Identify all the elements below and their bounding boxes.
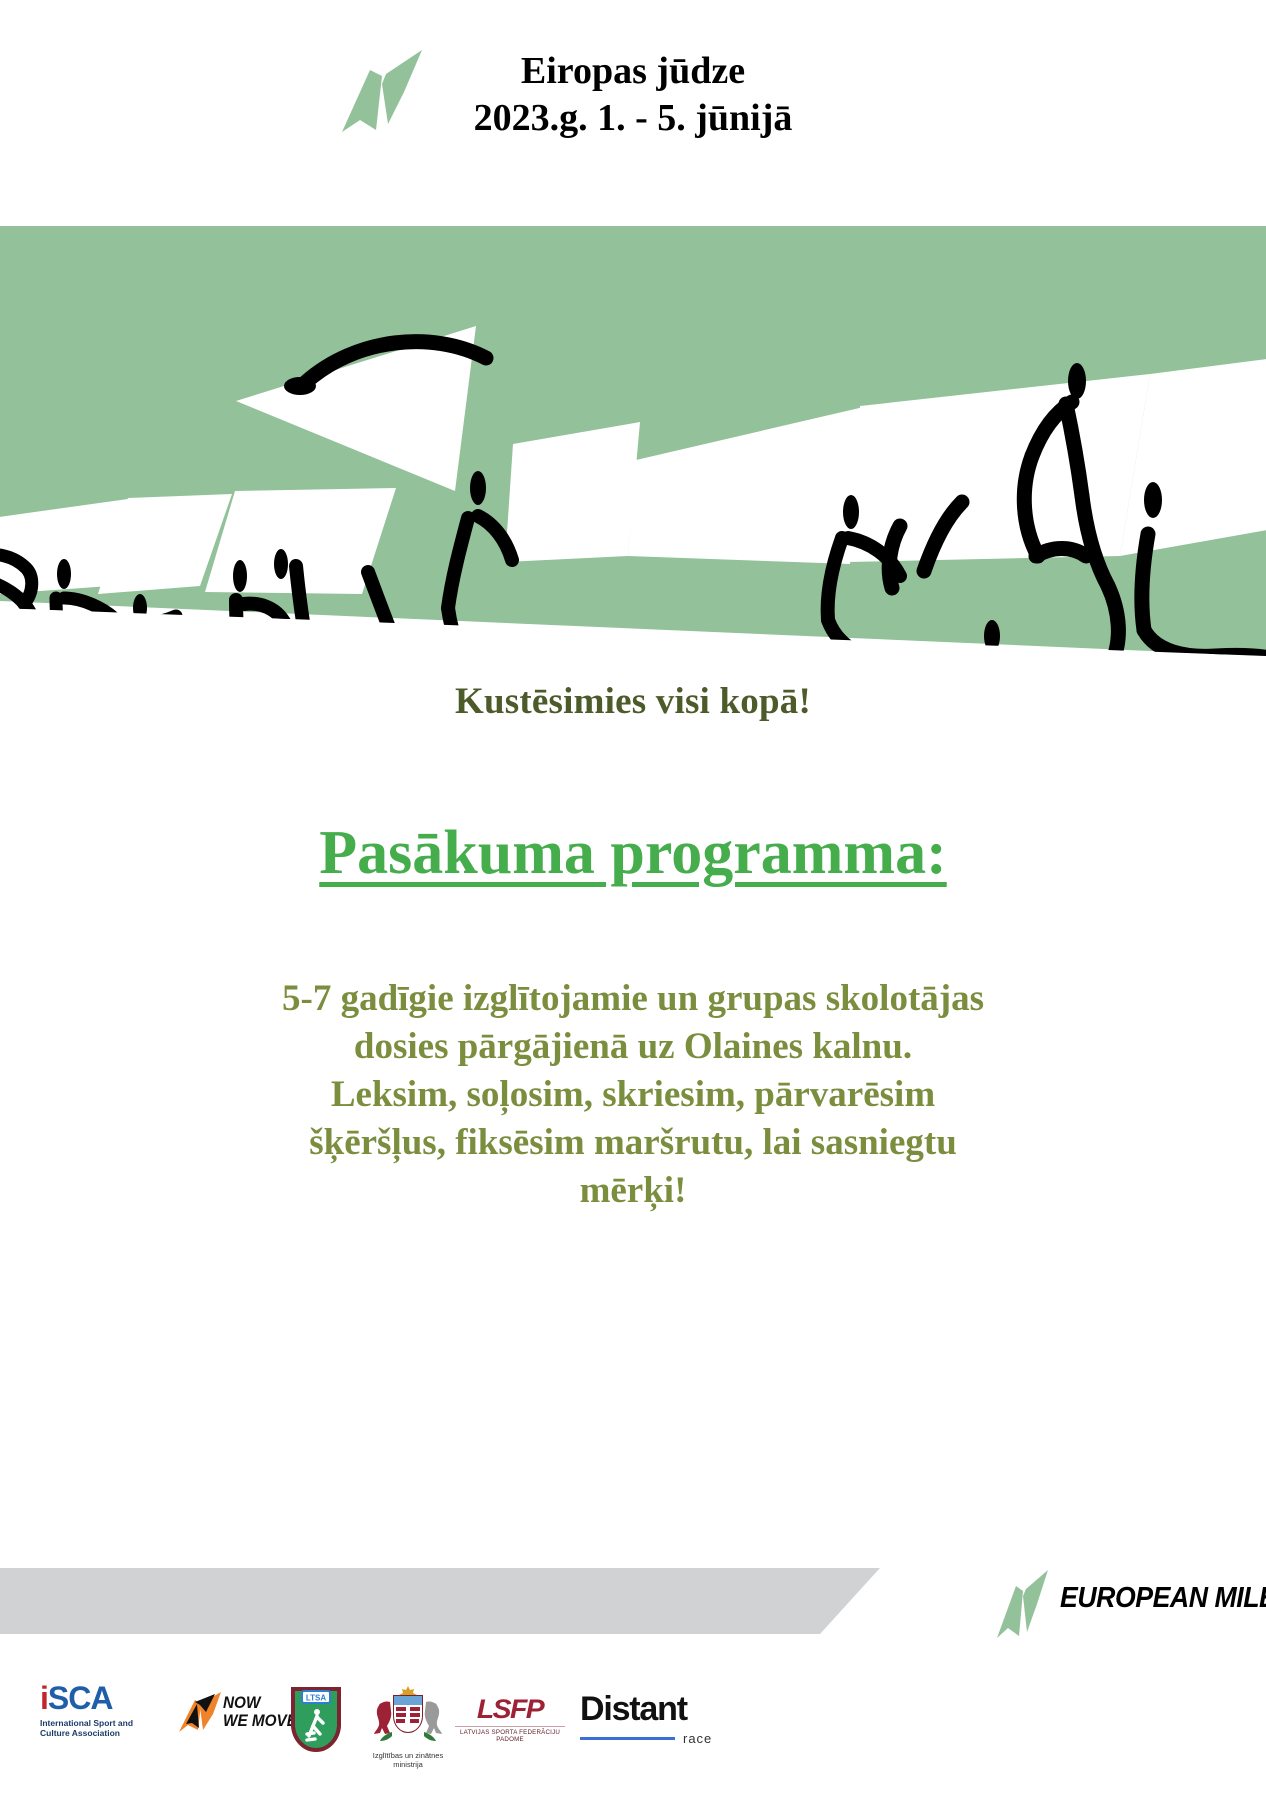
sponsor-distant-race: Distant race <box>580 1692 730 1746</box>
footer-band: EUROPEAN MILE <box>0 1560 1266 1650</box>
poster-header: Eiropas jūdze 2023.g. 1. - 5. jūnijā <box>0 0 1266 200</box>
sponsor-lsfp: LSFP LATVIJAS SPORTA FEDERĀCIJU PADOME <box>455 1696 565 1743</box>
hero-illustration <box>0 226 1266 656</box>
program-title-text: Pasākuma programma: <box>319 819 946 887</box>
isca-mark-rest: SCA <box>48 1680 113 1716</box>
sponsor-now-we-move: NOW WE MOVE <box>175 1690 295 1739</box>
isca-wordmark: iSCA <box>40 1682 155 1714</box>
isca-subtitle-line-2: Culture Association <box>40 1728 155 1738</box>
isca-mark-prefix: i <box>40 1680 48 1716</box>
wedge-5 <box>505 422 640 562</box>
footer-gray-band <box>0 1568 880 1634</box>
now-we-move-wordmark: NOW WE MOVE <box>223 1694 297 1730</box>
distant-wordmark: Distant <box>580 1692 730 1726</box>
sponsor-isca: iSCA International Sport and Culture Ass… <box>40 1682 155 1739</box>
distant-sub-row: race <box>580 1731 730 1746</box>
description-line-5: mērķi! <box>0 1167 1266 1215</box>
european-mile-wordmark: EUROPEAN MILE <box>1060 1582 1266 1615</box>
sponsor-izglitibas-ministrija: Izglītības un zinātnes ministrija <box>360 1682 456 1770</box>
page-title: Eiropas jūdze 2023.g. 1. - 5. jūnijā <box>0 48 1266 142</box>
svg-text:LTSA: LTSA <box>306 1694 327 1703</box>
lsfp-subtitle: LATVIJAS SPORTA FEDERĀCIJU PADOME <box>455 1726 565 1743</box>
title-line-1: Eiropas jūdze <box>521 50 745 92</box>
runners-artwork <box>0 226 1266 656</box>
distant-subtitle: race <box>683 1731 712 1746</box>
latvia-coat-of-arms-icon <box>360 1682 456 1744</box>
distant-blue-rule <box>580 1737 675 1740</box>
izm-subtitle: Izglītības un zinātnes ministrija <box>360 1751 456 1770</box>
now-we-move-line-1: NOW <box>223 1694 297 1712</box>
title-line-2: 2023.g. 1. - 5. jūnijā <box>0 95 1266 142</box>
description-line-3: Leksim, soļosim, skriesim, pārvarēsim <box>0 1071 1266 1119</box>
isca-subtitle-line-1: International Sport and <box>40 1718 155 1728</box>
description-line-4: šķēršļus, fiksēsim maršrutu, lai sasnieg… <box>0 1119 1266 1167</box>
izm-subtitle-line-1: Izglītības un zinātnes <box>360 1751 456 1760</box>
tagline: Kustēsimies visi kopā! <box>0 680 1266 723</box>
now-we-move-line-2: WE MOVE <box>223 1712 297 1730</box>
program-title-heading: Pasākuma programma: <box>0 818 1266 889</box>
now-we-move-arrow-icon <box>175 1690 225 1734</box>
sponsor-logos-row: iSCA International Sport and Culture Ass… <box>0 1678 1266 1788</box>
lsfp-wordmark: LSFP <box>452 1696 568 1723</box>
ltsa-shield-icon: LTSA <box>290 1686 342 1752</box>
sponsor-ltsa: LTSA <box>290 1686 342 1752</box>
isca-subtitle: International Sport and Culture Associat… <box>40 1718 155 1739</box>
description-line-2: dosies pārgājienā uz Olaines kalnu. <box>0 1023 1266 1071</box>
poster-page: Eiropas jūdze 2023.g. 1. - 5. jūnijā <box>0 0 1266 1797</box>
program-description: 5-7 gadīgie izglītojamie un grupas skolo… <box>0 975 1266 1215</box>
izm-subtitle-line-2: ministrija <box>360 1760 456 1769</box>
european-mile-arrow-logo <box>990 1564 1052 1640</box>
description-line-1: 5-7 gadīgie izglītojamie un grupas skolo… <box>0 975 1266 1023</box>
